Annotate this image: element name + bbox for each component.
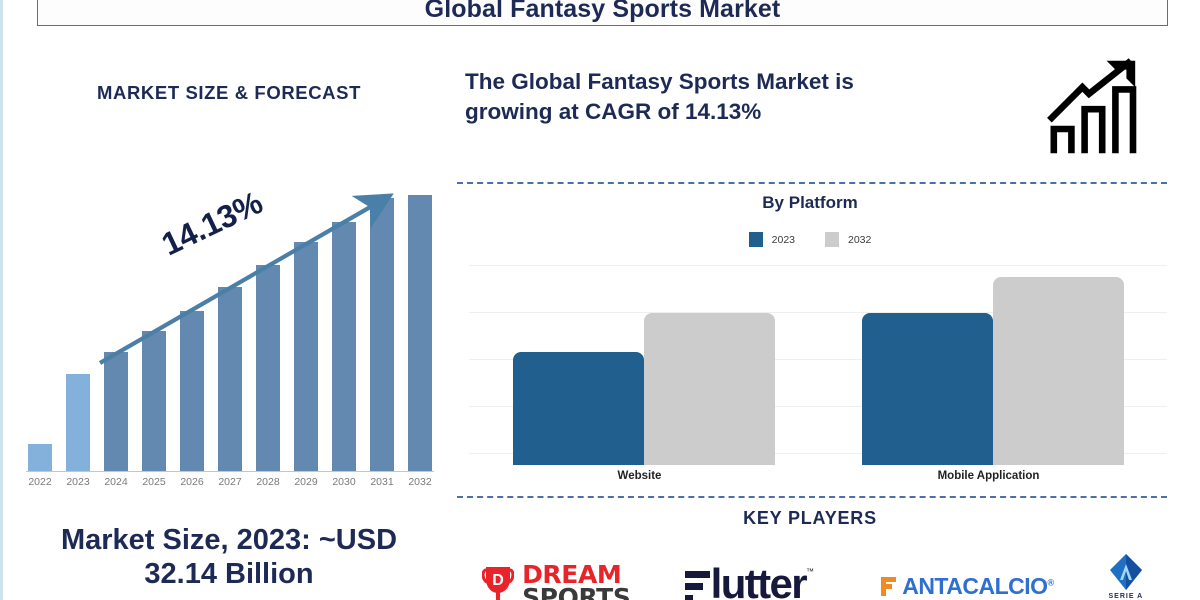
year-label: 2027 [216, 476, 244, 494]
year-label: 2026 [178, 476, 206, 494]
fantacalcio-f-icon [868, 569, 902, 600]
year-label: 2029 [292, 476, 320, 494]
flutter-trademark: ™ [806, 567, 814, 576]
platform-chart [459, 265, 1167, 465]
bar [218, 287, 242, 471]
market-size-year-axis: 2022202320242025202620272028202920302031… [26, 476, 434, 494]
legend-label: 2032 [848, 234, 871, 246]
platform-bars [469, 277, 1167, 465]
platform-label: Website [509, 470, 771, 482]
cagr-statement-line-1: The Global Fantasy Sports Market is [465, 67, 1005, 97]
market-size-line-2: 32.14 Billion [6, 558, 452, 592]
legend-swatch [825, 232, 839, 247]
bar [66, 374, 90, 471]
platform-chart-legend: 20232032 [455, 232, 1165, 247]
platform-group-mobile-application [862, 277, 1124, 465]
flutter-wordmark: lutter [711, 563, 806, 600]
key-players-title: KEY PLAYERS [455, 508, 1165, 529]
market-size-bar-2024 [102, 191, 130, 471]
market-size-value: Market Size, 2023: ~USD 32.14 Billion [6, 524, 452, 592]
page-title: Global Fantasy Sports Market [425, 0, 781, 25]
platform-chart-title: By Platform [455, 193, 1165, 213]
fantacalcio-wordmark: ANTACALCIO® [902, 573, 1053, 600]
platform-bar-2023 [862, 313, 993, 465]
legend-item-2023[interactable]: 2023 [749, 232, 795, 247]
market-size-panel: MARKET SIZE & FORECAST 20222023202420252… [6, 30, 452, 598]
year-label: 2022 [26, 476, 54, 494]
trophy-d-icon: D [482, 564, 514, 600]
bar [142, 331, 166, 471]
bar [370, 198, 394, 471]
dream-sports-word-2: SPORTS [522, 586, 630, 600]
platform-bar-2032 [993, 277, 1124, 465]
bar [28, 444, 52, 471]
platform-label: Mobile Application [858, 470, 1120, 482]
title-box: Global Fantasy Sports Market [37, 0, 1168, 26]
market-size-bar-2030 [330, 191, 358, 471]
serie-a-label: SERIE A [1108, 593, 1143, 600]
chart-baseline [26, 471, 434, 473]
legend-label: 2023 [772, 234, 795, 246]
left-frame-edge [0, 0, 3, 600]
market-size-bar-2029 [292, 191, 320, 471]
year-label: 2023 [64, 476, 92, 494]
market-size-bar-2032 [406, 191, 434, 471]
logo-fantacalcio[interactable]: ANTACALCIO® [868, 569, 1053, 600]
details-panel: The Global Fantasy Sports Market is grow… [455, 30, 1195, 600]
bar [256, 265, 280, 471]
year-label: 2025 [140, 476, 168, 494]
platform-category-labels: WebsiteMobile Application [465, 470, 1163, 482]
logo-flutter[interactable]: lutter ™ [685, 563, 814, 600]
platform-group-website [513, 277, 775, 465]
market-size-bar-2028 [254, 191, 282, 471]
market-size-bar-2023 [64, 191, 92, 471]
logo-dream-sports[interactable]: D DREAM SPORTS [482, 563, 630, 600]
gridline [469, 265, 1167, 266]
logo-serie-a[interactable]: SERIE A [1108, 552, 1144, 600]
cagr-statement: The Global Fantasy Sports Market is grow… [465, 67, 1005, 127]
year-label: 2030 [330, 476, 358, 494]
year-label: 2028 [254, 476, 282, 494]
year-label: 2031 [368, 476, 396, 494]
market-size-line-1: Market Size, 2023: ~USD [6, 524, 452, 558]
legend-swatch [749, 232, 763, 247]
market-size-heading: MARKET SIZE & FORECAST [6, 82, 452, 104]
bar [104, 352, 128, 471]
bar [180, 311, 204, 471]
serie-a-shield-icon [1108, 552, 1144, 592]
growth-chart-arrow-icon [1045, 52, 1155, 162]
divider-top [457, 182, 1167, 184]
bar [332, 222, 356, 471]
legend-item-2032[interactable]: 2032 [825, 232, 871, 247]
flutter-f-icon [685, 569, 711, 600]
infographic-page: Global Fantasy Sports Market MARKET SIZE… [0, 0, 1200, 600]
svg-text:D: D [492, 572, 504, 589]
bar [294, 242, 318, 471]
market-size-bar-2022 [26, 191, 54, 471]
fantacalcio-registered: ® [1048, 577, 1054, 587]
market-size-bar-2031 [368, 191, 396, 471]
divider-bottom [457, 496, 1167, 498]
bar [408, 195, 432, 471]
year-label: 2024 [102, 476, 130, 494]
platform-bar-2023 [513, 352, 644, 465]
cagr-statement-line-2: growing at CAGR of 14.13% [465, 97, 1005, 127]
platform-bar-2032 [644, 313, 775, 465]
key-players-logos: D DREAM SPORTS lutter ™ [455, 542, 1171, 600]
year-label: 2032 [406, 476, 434, 494]
